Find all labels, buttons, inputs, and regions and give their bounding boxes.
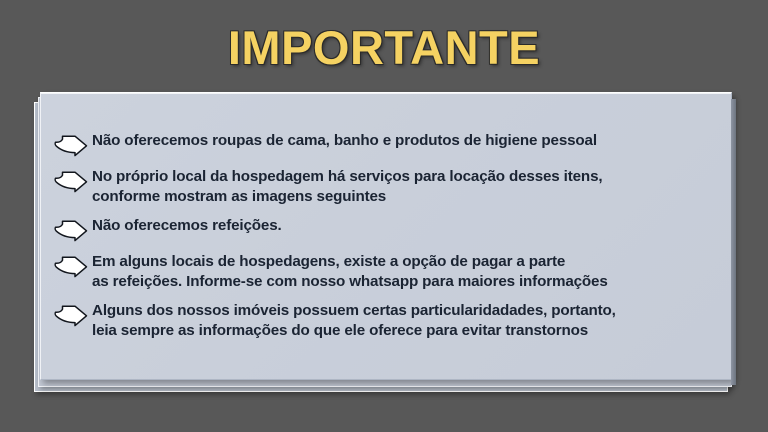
bullet-list: Não oferecemos roupas de cama, banho e p… (53, 131, 721, 350)
list-item: Não oferecemos roupas de cama, banho e p… (53, 131, 721, 158)
content-panel-stack: Não oferecemos roupas de cama, banho e p… (40, 92, 732, 380)
list-item-label: Alguns dos nossos imóveis possuem certas… (92, 301, 616, 341)
slide-canvas: IMPORTANTE Não oferecemos roupas de cama… (0, 0, 768, 432)
right-block-arrow-icon (53, 134, 89, 158)
list-item-label: Não oferecemos refeições. (92, 216, 282, 236)
right-block-arrow-icon (53, 304, 89, 328)
page-title: IMPORTANTE (0, 22, 768, 74)
list-item-label: Não oferecemos roupas de cama, banho e p… (92, 131, 597, 151)
right-block-arrow-icon (53, 219, 89, 243)
list-item-label: Em alguns locais de hospedagens, existe … (92, 252, 608, 292)
list-item: Em alguns locais de hospedagens, existe … (53, 252, 721, 292)
list-item: Alguns dos nossos imóveis possuem certas… (53, 301, 721, 341)
right-block-arrow-icon (53, 170, 89, 194)
content-panel: Não oferecemos roupas de cama, banho e p… (40, 92, 732, 380)
panel-right-edge (731, 99, 736, 385)
list-item-label: No próprio local da hospedagem há serviç… (92, 167, 602, 207)
list-item: Não oferecemos refeições. (53, 216, 721, 243)
list-item: No próprio local da hospedagem há serviç… (53, 167, 721, 207)
right-block-arrow-icon (53, 255, 89, 279)
